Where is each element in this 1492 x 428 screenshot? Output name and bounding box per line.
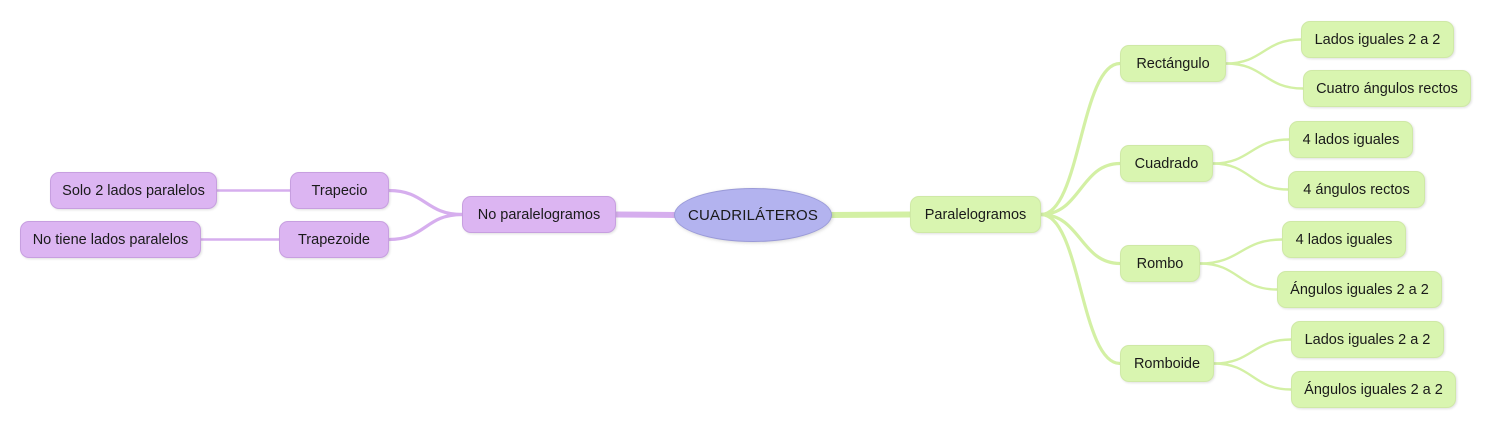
connector-edge <box>1200 240 1282 264</box>
connector-edge <box>1041 215 1120 364</box>
branch-node-paralelogramos[interactable]: Paralelogramos <box>910 196 1041 233</box>
leaf-node-label: Solo 2 lados paralelos <box>62 183 205 199</box>
leaf-node-label: No tiene lados paralelos <box>33 232 189 248</box>
child-node-label: Romboide <box>1134 356 1200 372</box>
root-node-label: CUADRILÁTEROS <box>688 207 818 224</box>
connector-edge <box>1041 215 1120 264</box>
mindmap-canvas: CUADRILÁTEROS No paralelogramos Trapecio… <box>0 0 1492 428</box>
leaf-node-label: 4 ángulos rectos <box>1303 182 1409 198</box>
connector-edge <box>389 191 462 215</box>
leaf-node-label: Cuatro ángulos rectos <box>1316 81 1458 97</box>
connector-edge <box>389 215 462 240</box>
child-node-label: Trapecio <box>312 183 368 199</box>
connector-edge <box>1200 264 1277 290</box>
branch-node-label: No paralelogramos <box>478 207 601 223</box>
connector-edge <box>1213 164 1288 190</box>
connector-edge <box>1214 364 1291 390</box>
leaf-node-label: Ángulos iguales 2 a 2 <box>1290 282 1429 298</box>
leaf-node-angulos-iguales-2-a-2-rombo[interactable]: Ángulos iguales 2 a 2 <box>1277 271 1442 308</box>
root-node-cuadrilateros[interactable]: CUADRILÁTEROS <box>674 188 832 242</box>
leaf-node-lados-iguales-2-a-2-romboide[interactable]: Lados iguales 2 a 2 <box>1291 321 1444 358</box>
leaf-node-no-tiene-lados-paralelos[interactable]: No tiene lados paralelos <box>20 221 201 258</box>
child-node-trapecio[interactable]: Trapecio <box>290 172 389 209</box>
branch-node-no-paralelogramos[interactable]: No paralelogramos <box>462 196 616 233</box>
connector-edge <box>1213 140 1289 164</box>
child-node-label: Trapezoide <box>298 232 370 248</box>
child-node-label: Rectángulo <box>1136 56 1209 72</box>
leaf-node-cuatro-angulos-rectos[interactable]: Cuatro ángulos rectos <box>1303 70 1471 107</box>
child-node-rombo[interactable]: Rombo <box>1120 245 1200 282</box>
leaf-node-label: 4 lados iguales <box>1303 132 1400 148</box>
leaf-node-label: Ángulos iguales 2 a 2 <box>1304 382 1443 398</box>
connector-edge <box>1214 340 1291 364</box>
connector-edge <box>828 215 910 216</box>
leaf-node-4-angulos-rectos[interactable]: 4 ángulos rectos <box>1288 171 1425 208</box>
leaf-node-label: Lados iguales 2 a 2 <box>1305 332 1431 348</box>
leaf-node-label: Lados iguales 2 a 2 <box>1315 32 1441 48</box>
leaf-node-solo-2-lados-paralelos[interactable]: Solo 2 lados paralelos <box>50 172 217 209</box>
leaf-node-4-lados-iguales-cuadrado[interactable]: 4 lados iguales <box>1289 121 1413 158</box>
branch-node-label: Paralelogramos <box>925 207 1027 223</box>
connector-edge <box>616 215 678 216</box>
leaf-node-lados-iguales-2-a-2[interactable]: Lados iguales 2 a 2 <box>1301 21 1454 58</box>
leaf-node-4-lados-iguales-rombo[interactable]: 4 lados iguales <box>1282 221 1406 258</box>
connector-edge <box>1226 40 1301 64</box>
connector-edge <box>1226 64 1303 89</box>
child-node-label: Cuadrado <box>1135 156 1199 172</box>
connector-edge <box>1041 164 1120 215</box>
child-node-rectangulo[interactable]: Rectángulo <box>1120 45 1226 82</box>
connector-edge <box>1041 64 1120 215</box>
leaf-node-label: 4 lados iguales <box>1296 232 1393 248</box>
leaf-node-angulos-iguales-2-a-2-romboide[interactable]: Ángulos iguales 2 a 2 <box>1291 371 1456 408</box>
child-node-label: Rombo <box>1137 256 1184 272</box>
child-node-romboide[interactable]: Romboide <box>1120 345 1214 382</box>
child-node-trapezoide[interactable]: Trapezoide <box>279 221 389 258</box>
child-node-cuadrado[interactable]: Cuadrado <box>1120 145 1213 182</box>
